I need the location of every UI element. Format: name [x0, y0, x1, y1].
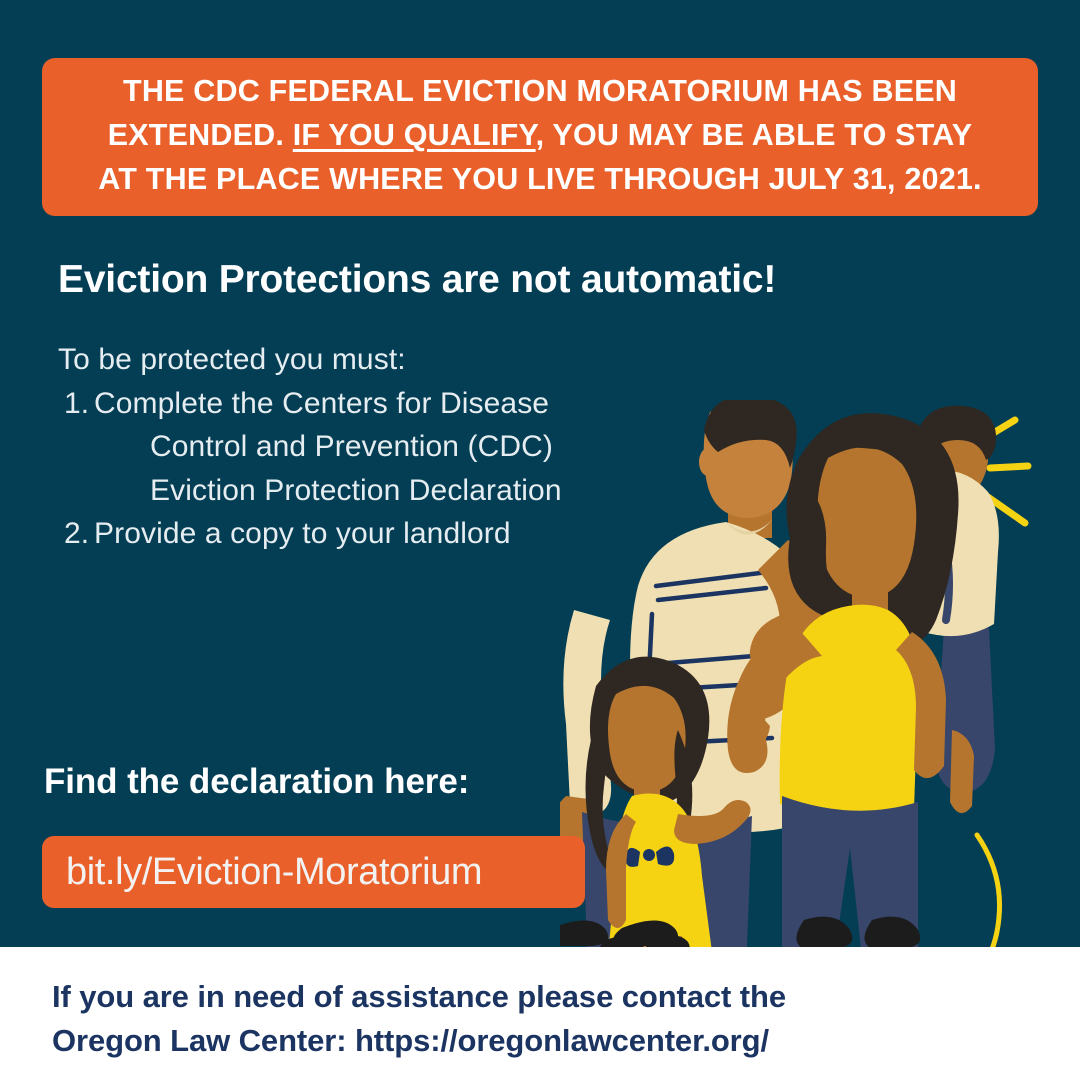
call-to-action-label: Find the declaration here:: [44, 762, 469, 802]
step-1-line-2: Control and Prevention (CDC): [94, 425, 698, 469]
declaration-url-button[interactable]: bit.ly/Eviction-Moratorium: [42, 836, 585, 908]
instructions-intro: To be protected you must:: [58, 338, 698, 382]
list-item: 1.Complete the Centers for Disease Contr…: [58, 382, 698, 513]
declaration-url-text: bit.ly/Eviction-Moratorium: [66, 851, 482, 894]
step-1-line-3: Eviction Protection Declaration: [94, 469, 698, 513]
list-item: 2.Provide a copy to your landlord: [58, 512, 698, 556]
page-headline: Eviction Protections are not automatic!: [58, 258, 776, 302]
alert-line-1: THE CDC FEDERAL EVICTION MORATORIUM HAS …: [123, 74, 957, 108]
footer-line-1: If you are in need of assistance please …: [52, 975, 952, 1019]
eviction-moratorium-poster: THE CDC FEDERAL EVICTION MORATORIUM HAS …: [0, 0, 1080, 1080]
footer-line-2: Oregon Law Center: https://oregonlawcent…: [52, 1019, 952, 1063]
alert-line-2-after: , YOU MAY BE ABLE TO STAY: [536, 118, 973, 152]
alert-line-3: AT THE PLACE WHERE YOU LIVE THROUGH JULY…: [98, 162, 981, 196]
instructions-block: To be protected you must: 1.Complete the…: [58, 338, 698, 556]
alert-banner: THE CDC FEDERAL EVICTION MORATORIUM HAS …: [42, 58, 1038, 216]
alert-banner-text: THE CDC FEDERAL EVICTION MORATORIUM HAS …: [60, 69, 1020, 201]
instructions-list: 1.Complete the Centers for Disease Contr…: [58, 382, 698, 556]
step-2-number: 2.: [64, 512, 94, 556]
step-1-number: 1.: [64, 382, 94, 426]
step-1-line-1: Complete the Centers for Disease: [94, 387, 549, 420]
step-2-line-1: Provide a copy to your landlord: [94, 517, 511, 550]
footer-contact-text: If you are in need of assistance please …: [52, 975, 952, 1063]
alert-line-2-underlined: IF YOU QUALIFY: [293, 118, 536, 152]
alert-line-2-before: EXTENDED.: [108, 118, 293, 152]
